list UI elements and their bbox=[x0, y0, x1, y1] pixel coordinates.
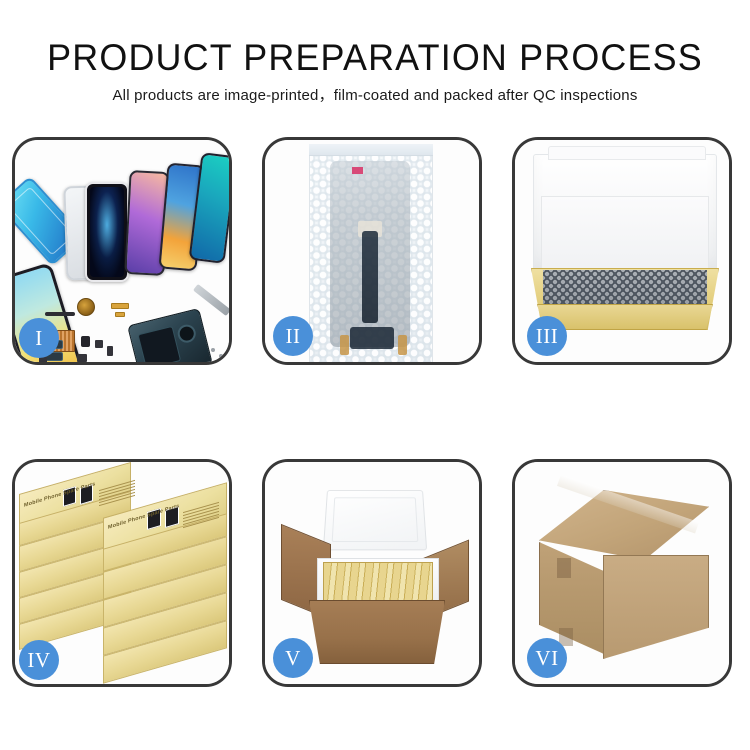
page-subtitle: All products are image-printed，film-coat… bbox=[0, 86, 750, 106]
page-title: PRODUCT PREPARATION PROCESS bbox=[11, 36, 739, 80]
process-step-4: Mobile Phone Spare Parts Mobile Phone Sp… bbox=[12, 459, 232, 687]
step-badge-1: I bbox=[19, 318, 59, 358]
process-step-5: V bbox=[262, 459, 482, 687]
vibrator-icon bbox=[107, 346, 113, 356]
carton-handle-cutout bbox=[557, 558, 571, 578]
camera-module-icon bbox=[81, 336, 90, 347]
small-part-icon bbox=[77, 354, 87, 362]
lcd-screen-icon bbox=[85, 182, 129, 282]
speaker-coil-icon bbox=[77, 298, 95, 316]
qc-sticker-icon bbox=[352, 167, 363, 174]
gold-contact-icon bbox=[115, 312, 125, 317]
step-badge-4: IV bbox=[19, 640, 59, 680]
wrapped-gold-contact-right bbox=[398, 335, 407, 355]
step-badge-3: III bbox=[527, 316, 567, 356]
bag-seal bbox=[309, 144, 433, 156]
process-step-6: VI bbox=[512, 459, 732, 687]
process-step-3: III bbox=[512, 137, 732, 365]
product-preparation-process-page: PRODUCT PREPARATION PROCESS All products… bbox=[0, 0, 750, 750]
flat-box-foam-sheet bbox=[541, 196, 709, 274]
step-badge-6: VI bbox=[527, 638, 567, 678]
ic-chip-icon bbox=[95, 340, 103, 348]
step-badge-5: V bbox=[273, 638, 313, 678]
disassembled-phone-icon bbox=[127, 308, 213, 362]
earpiece-mesh-icon bbox=[45, 312, 75, 316]
bubble-wrap-bag bbox=[309, 144, 433, 362]
screw-icon bbox=[211, 348, 215, 352]
step-badge-2: II bbox=[273, 316, 313, 356]
foam-lid bbox=[323, 490, 427, 550]
wrapped-gold-contact-left bbox=[340, 335, 349, 355]
process-step-1: I bbox=[12, 137, 232, 365]
wrapped-flex-cable bbox=[362, 231, 378, 323]
header: PRODUCT PREPARATION PROCESS All products… bbox=[0, 36, 750, 106]
gold-connector-icon bbox=[111, 303, 129, 309]
screw-2-icon bbox=[219, 354, 223, 358]
packed-retail-boxes bbox=[323, 562, 433, 604]
wrapped-connector bbox=[350, 327, 394, 349]
process-step-grid: I II bbox=[12, 137, 738, 687]
process-step-2: II bbox=[262, 137, 482, 365]
carton-right-face bbox=[603, 555, 709, 659]
carton-body bbox=[309, 600, 445, 664]
